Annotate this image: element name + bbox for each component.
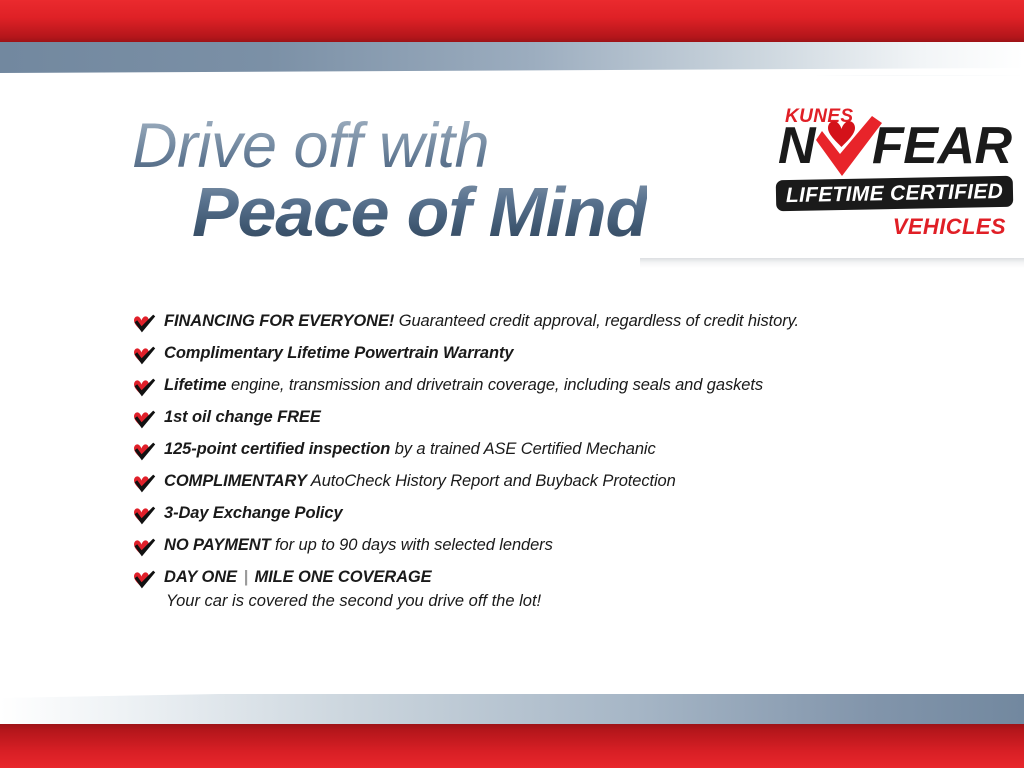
list-item: COMPLIMENTARY AutoCheck History Report a… bbox=[132, 470, 952, 502]
heart-check-icon bbox=[132, 442, 156, 464]
list-item-emphasis-secondary: MILE ONE COVERAGE bbox=[254, 568, 431, 586]
list-item-emphasis: NO PAYMENT bbox=[164, 536, 271, 554]
headline-line-1: Drive off with bbox=[132, 118, 647, 176]
list-item-emphasis: COMPLIMENTARY bbox=[164, 472, 307, 490]
list-item: Complimentary Lifetime Powertrain Warran… bbox=[132, 342, 952, 374]
heart-check-icon bbox=[132, 378, 156, 400]
list-item-detail: AutoCheck History Report and Buyback Pro… bbox=[307, 472, 676, 490]
list-item: 3-Day Exchange Policy bbox=[132, 502, 952, 534]
logo-letter-n: N bbox=[778, 120, 816, 172]
kunes-no-fear-logo: KUNES N FEAR LIFETIME CERTIFIED VEHICLES bbox=[772, 106, 1016, 242]
heart-check-icon bbox=[132, 506, 156, 528]
bottom-steel-bar bbox=[0, 694, 1024, 724]
list-item-text: 125-point certified inspection by a trai… bbox=[164, 438, 952, 460]
list-item-text: DAY ONE | MILE ONE COVERAGE bbox=[164, 566, 952, 588]
list-item-text: COMPLIMENTARY AutoCheck History Report a… bbox=[164, 470, 952, 492]
heart-check-icon bbox=[132, 314, 156, 336]
header-divider-mask bbox=[0, 252, 640, 270]
list-item-detail: by a trained ASE Certified Mechanic bbox=[390, 440, 655, 458]
bottom-red-bar bbox=[0, 724, 1024, 768]
list-item-emphasis: 3-Day Exchange Policy bbox=[164, 504, 343, 522]
list-item-text: Complimentary Lifetime Powertrain Warran… bbox=[164, 342, 952, 364]
benefits-list: FINANCING FOR EVERYONE! Guaranteed credi… bbox=[132, 310, 952, 618]
heart-check-icon bbox=[132, 538, 156, 560]
list-item-emphasis: FINANCING FOR EVERYONE! bbox=[164, 312, 394, 330]
list-item: Lifetime engine, transmission and drivet… bbox=[132, 374, 952, 406]
list-item-emphasis: 1st oil change FREE bbox=[164, 408, 321, 426]
list-item-emphasis: Complimentary Lifetime Powertrain Warran… bbox=[164, 344, 513, 362]
list-item-text: Lifetime engine, transmission and drivet… bbox=[164, 374, 952, 396]
list-item-separator: | bbox=[237, 568, 255, 586]
heart-check-icon bbox=[132, 410, 156, 432]
list-item-emphasis: Lifetime bbox=[164, 376, 226, 394]
logo-banner-label: LIFETIME CERTIFIED bbox=[776, 176, 1014, 212]
page-title: Drive off with Peace of Mind bbox=[132, 118, 647, 244]
list-item: DAY ONE | MILE ONE COVERAGEYour car is c… bbox=[132, 566, 952, 618]
list-item-detail: Guaranteed credit approval, regardless o… bbox=[394, 312, 799, 330]
list-item-detail: engine, transmission and drivetrain cove… bbox=[226, 376, 763, 394]
list-item-emphasis: DAY ONE bbox=[164, 568, 237, 586]
list-item: 1st oil change FREE bbox=[132, 406, 952, 438]
list-item-text: 1st oil change FREE bbox=[164, 406, 952, 428]
list-item-text: NO PAYMENT for up to 90 days with select… bbox=[164, 534, 952, 556]
list-item: FINANCING FOR EVERYONE! Guaranteed credi… bbox=[132, 310, 952, 342]
logo-word-vehicles: VEHICLES bbox=[893, 214, 1006, 240]
list-item-detail: for up to 90 days with selected lenders bbox=[271, 536, 553, 554]
heart-check-icon bbox=[132, 346, 156, 368]
list-item-subtext: Your car is covered the second you drive… bbox=[166, 590, 952, 612]
list-item: 125-point certified inspection by a trai… bbox=[132, 438, 952, 470]
heart-check-icon bbox=[132, 474, 156, 496]
logo-certified-banner: LIFETIME CERTIFIED bbox=[776, 176, 1014, 212]
heart-check-icon bbox=[132, 570, 156, 592]
list-item-text: FINANCING FOR EVERYONE! Guaranteed credi… bbox=[164, 310, 952, 332]
list-item-emphasis: 125-point certified inspection bbox=[164, 440, 390, 458]
headline-line-2: Peace of Mind bbox=[192, 180, 647, 244]
top-steel-bar bbox=[0, 42, 1024, 76]
top-red-bar bbox=[0, 0, 1024, 42]
logo-word-fear: FEAR bbox=[872, 120, 1012, 172]
list-item: NO PAYMENT for up to 90 days with select… bbox=[132, 534, 952, 566]
list-item-text: 3-Day Exchange Policy bbox=[164, 502, 952, 524]
